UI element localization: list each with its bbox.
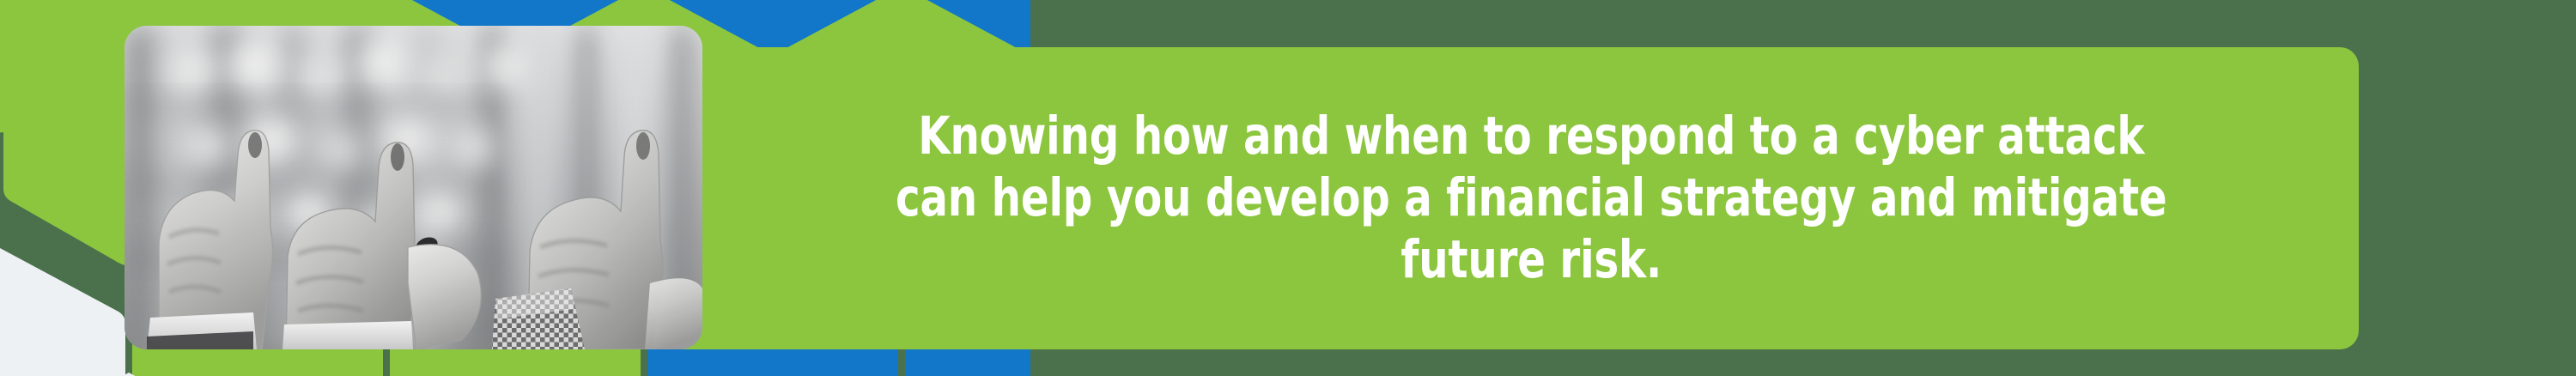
headline-panel: Knowing how and when to respond to a cyb… xyxy=(601,47,2359,349)
headline-text: Knowing how and when to respond to a cyb… xyxy=(896,106,2167,291)
callout-banner: Knowing how and when to respond to a cyb… xyxy=(0,0,2576,376)
thumbs-up-photo xyxy=(125,26,702,349)
